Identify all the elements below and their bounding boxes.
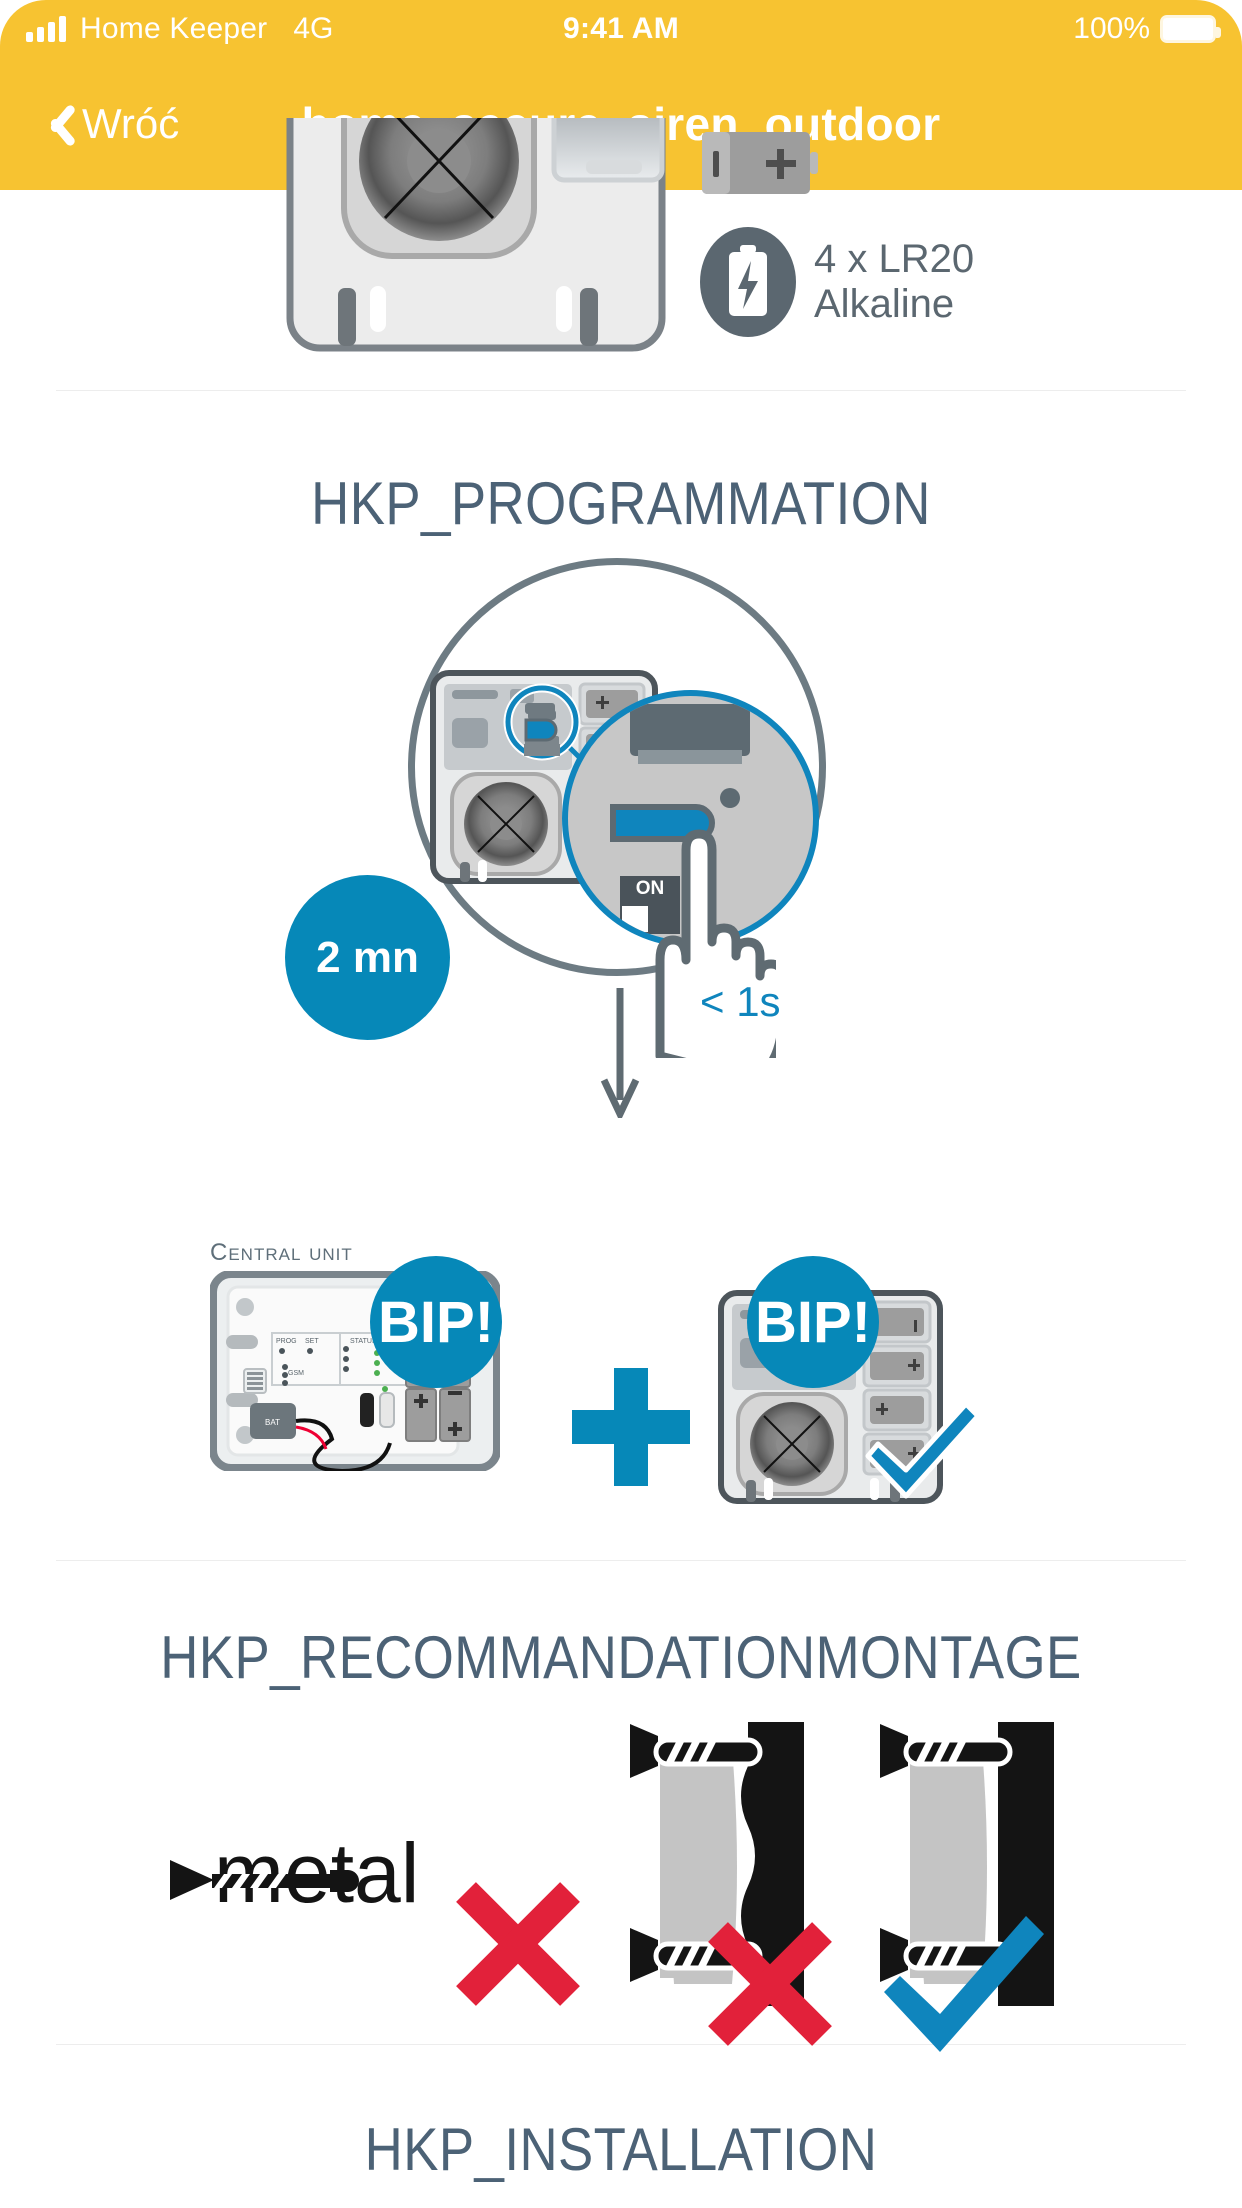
bip-badge-central-unit: BIP! bbox=[370, 1256, 502, 1388]
status-bar: Home Keeper 4G 9:41 AM 100% bbox=[0, 0, 1242, 58]
battery-spec-text: 4 x LR20 Alkaline bbox=[814, 237, 974, 327]
check-icon bbox=[880, 1910, 1050, 2060]
battery-spec-line2: Alkaline bbox=[814, 282, 954, 326]
section-title-installation: HKP_INSTALLATION bbox=[75, 2045, 1168, 2184]
chevron-left-icon bbox=[34, 97, 68, 151]
recommandation-illustration: metal bbox=[0, 1714, 1242, 2044]
svg-text:SET: SET bbox=[305, 1338, 319, 1345]
network-type-label: 4G bbox=[293, 12, 333, 46]
connector-chip-shape bbox=[630, 704, 750, 756]
led-dot-shape bbox=[720, 788, 740, 808]
svg-text:PROG: PROG bbox=[276, 1338, 297, 1345]
battery-cell-icon bbox=[700, 128, 820, 200]
cross-icon bbox=[448, 1874, 588, 2014]
bip-badge-label: BIP! bbox=[378, 1289, 494, 1356]
arrow-down-icon bbox=[600, 988, 640, 1118]
duration-badge-label: 2 mn bbox=[316, 933, 419, 983]
plus-icon bbox=[572, 1368, 690, 1486]
battery-requirement: 4 x LR20 Alkaline bbox=[700, 227, 974, 337]
section-recommandation: HKP_RECOMMANDATIONMONTAGE metal bbox=[0, 1561, 1242, 2044]
bip-badge-siren: BIP! bbox=[747, 1256, 879, 1388]
metal-warning-icon: metal bbox=[170, 1824, 470, 1934]
cross-icon bbox=[700, 1914, 840, 2054]
battery-percent-label: 100% bbox=[1073, 12, 1150, 46]
carrier-label: Home Keeper bbox=[80, 12, 267, 46]
programmation-illustration: 2 mn ON < 1s bbox=[0, 548, 1242, 1238]
outdoor-siren-open-illustration bbox=[286, 118, 666, 390]
status-bar-left: Home Keeper 4G bbox=[0, 12, 333, 46]
scroll-content[interactable]: 4 x LR20 Alkaline HKP_PROGRAMMATION bbox=[0, 190, 1242, 2208]
svg-text:BAT: BAT bbox=[265, 1418, 280, 1427]
section-programmation: HKP_PROGRAMMATION bbox=[0, 391, 1242, 1238]
status-bar-right: 100% bbox=[1073, 12, 1242, 46]
duration-badge: 2 mn bbox=[285, 875, 450, 1040]
battery-spec-line1: 4 x LR20 bbox=[814, 237, 974, 281]
check-icon bbox=[862, 1398, 982, 1508]
battery-full-icon bbox=[1160, 15, 1216, 43]
section-title-programmation: HKP_PROGRAMMATION bbox=[75, 391, 1168, 538]
press-duration-label: < 1s bbox=[700, 978, 781, 1026]
section-installation: HKP_INSTALLATION bbox=[0, 2045, 1242, 2184]
back-button-label: Wróć bbox=[82, 100, 179, 148]
section-title-recommandation: HKP_RECOMMANDATIONMONTAGE bbox=[75, 1561, 1168, 1692]
bip-badge-label: BIP! bbox=[755, 1289, 871, 1356]
svg-text:metal: metal bbox=[214, 1826, 419, 1920]
signal-bars-icon bbox=[26, 16, 66, 42]
section-battery: 4 x LR20 Alkaline bbox=[0, 190, 1242, 390]
svg-text:GSM: GSM bbox=[288, 1370, 304, 1377]
battery-charge-icon bbox=[700, 227, 796, 337]
back-button[interactable]: Wróć bbox=[0, 97, 179, 151]
battery-spec-block: 4 x LR20 Alkaline bbox=[700, 128, 974, 337]
